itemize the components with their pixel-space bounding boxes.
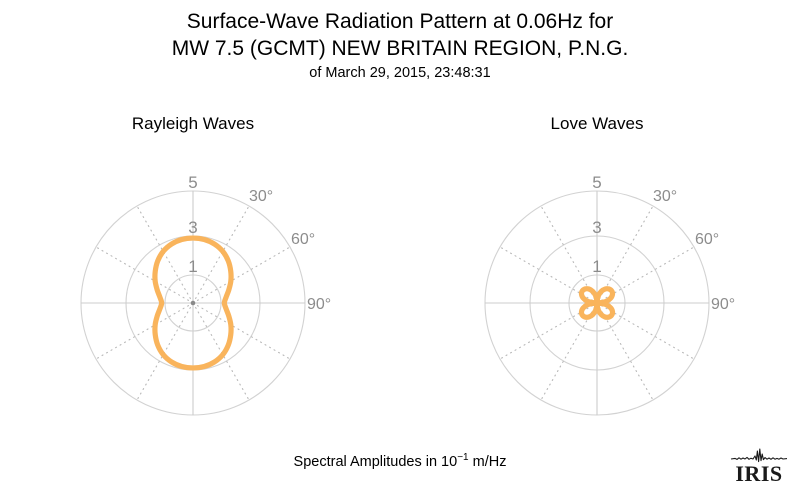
spoke-240 xyxy=(96,303,193,359)
radial-tick-label-3: 3 xyxy=(188,218,197,237)
angular-tick-label-30: 30° xyxy=(653,188,677,205)
spoke-30 xyxy=(193,206,249,303)
footer-exponent-base: 10 xyxy=(441,454,457,470)
spoke-60 xyxy=(193,247,290,303)
angular-tick-label-90: 90° xyxy=(307,296,331,313)
rayleigh-polar-svg: 1 3 5 30° 60° 90° xyxy=(57,167,329,439)
spoke-210 xyxy=(137,303,193,400)
angular-tick-label-60: 60° xyxy=(695,231,719,248)
rayleigh-panel-title: Rayleigh Waves xyxy=(93,114,293,134)
footer-text-before: Spectral Amplitudes in xyxy=(294,454,442,470)
title-line-2: MW 7.5 (GCMT) NEW BRITAIN REGION, P.N.G. xyxy=(0,35,800,62)
footer-exponent: −1 xyxy=(457,452,468,463)
title-line-1: Surface-Wave Radiation Pattern at 0.06Hz… xyxy=(0,8,800,35)
radial-tick-label-5: 5 xyxy=(592,173,601,192)
angular-tick-label-90: 90° xyxy=(711,296,735,313)
radial-tick-label-1: 1 xyxy=(592,257,601,276)
love-panel-title: Love Waves xyxy=(497,114,697,134)
spoke-330 xyxy=(137,206,193,303)
iris-logo: IRIS xyxy=(728,448,790,490)
angular-tick-label-30: 30° xyxy=(249,188,273,205)
spoke-150 xyxy=(193,303,249,400)
rayleigh-polar-plot: 1 3 5 30° 60° 90° xyxy=(57,167,329,439)
footer-caption: Spectral Amplitudes in 10−1 m/Hz xyxy=(0,452,800,470)
spoke-300 xyxy=(96,247,193,303)
love-radiation-curve xyxy=(581,289,612,318)
footer-text-after: m/Hz xyxy=(469,454,507,470)
spoke-120 xyxy=(193,303,290,359)
title-subtitle-datetime: of March 29, 2015, 23:48:31 xyxy=(0,62,800,84)
angular-tick-label-60: 60° xyxy=(291,231,315,248)
radial-tick-label-1: 1 xyxy=(188,257,197,276)
love-polar-plot: 1 3 5 30° 60° 90° xyxy=(461,167,733,439)
love-polar-svg: 1 3 5 30° 60° 90° xyxy=(461,167,733,439)
radial-tick-label-3: 3 xyxy=(592,218,601,237)
iris-wordmark: IRIS xyxy=(728,463,790,484)
figure-title-block: Surface-Wave Radiation Pattern at 0.06Hz… xyxy=(0,8,800,84)
radial-tick-label-5: 5 xyxy=(188,173,197,192)
origin-dot xyxy=(191,301,196,306)
